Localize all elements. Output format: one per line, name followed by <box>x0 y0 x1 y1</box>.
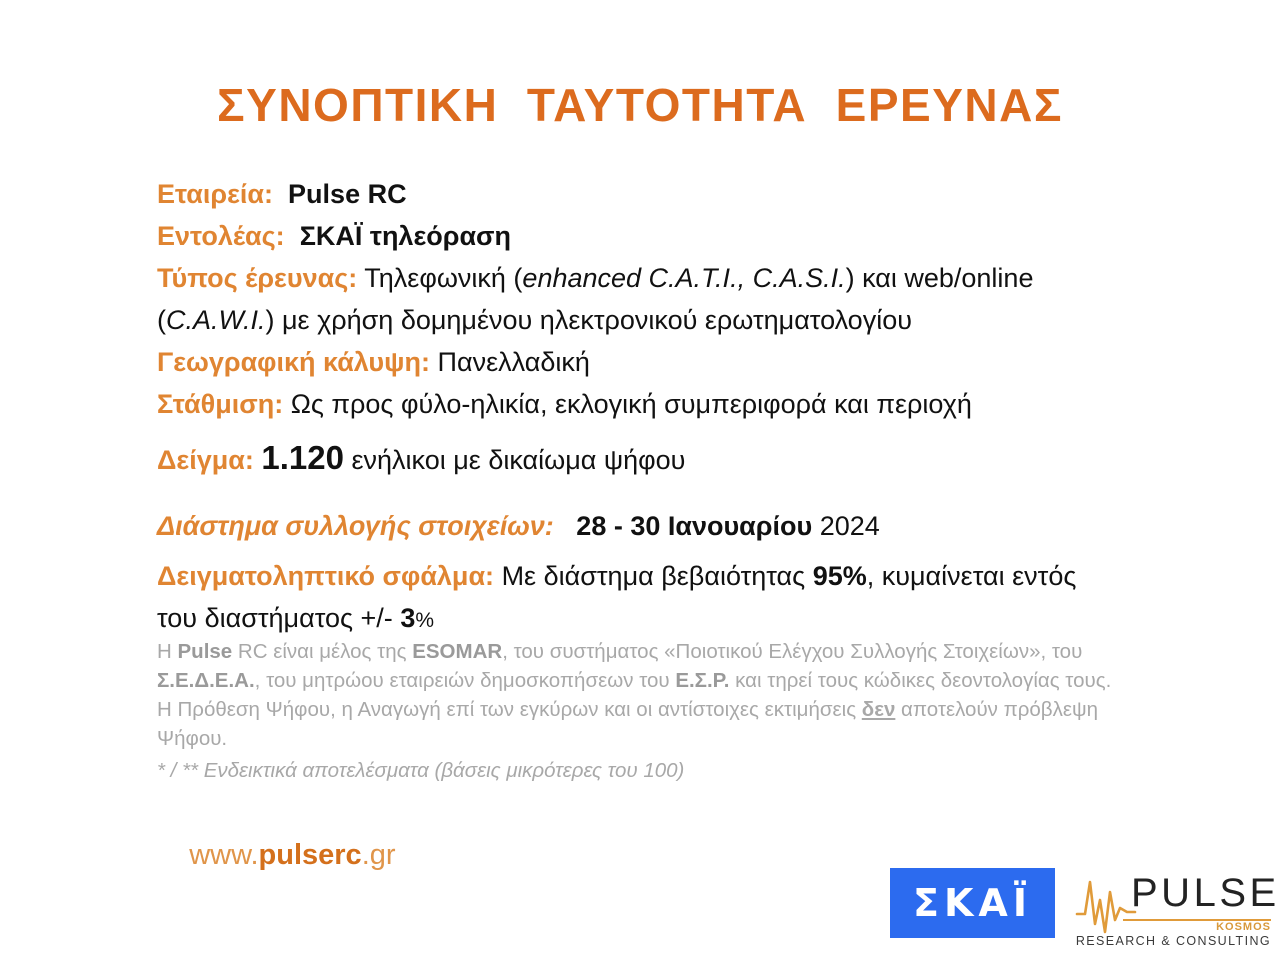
disclaimer-part-4: , του μητρώου εταιρειών δημοσκοπήσεων το… <box>255 669 676 692</box>
field-period-label: Διάστημα συλλογής στοιχείων: <box>157 511 554 541</box>
field-weighting-value: Ως προς φύλο-ηλικία, εκλογική συμπεριφορ… <box>291 389 972 419</box>
field-margin-of-error-label: Δειγματοληπτικό σφάλμα: <box>157 561 494 591</box>
disclaimer-pulse: Pulse <box>178 640 233 663</box>
field-company-label: Εταιρεία: <box>157 179 273 209</box>
field-client: Εντολέας: ΣΚΑΪ τηλεόραση <box>157 215 1117 257</box>
field-coverage: Γεωγραφική κάλυψη: Πανελλαδική <box>157 341 1117 383</box>
field-company: Εταιρεία: Pulse RC <box>157 173 1117 215</box>
logo-bar: ΣΚΑΪ PULSE KOSMOS RESEARCH & CONSULTING <box>885 862 1275 954</box>
disclaimer-text: Η Pulse RC είναι μέλος της ESOMAR, του σ… <box>157 637 1127 785</box>
field-survey-type-label: Τύπος έρευνας: <box>157 263 357 293</box>
field-sample-number: 1.120 <box>261 439 344 476</box>
pulse-logo: PULSE KOSMOS RESEARCH & CONSULTING <box>1075 862 1275 950</box>
url-suffix: .gr <box>362 839 396 871</box>
skai-logo-text: ΣΚΑΪ <box>913 881 1032 925</box>
website-url[interactable]: www.pulserc.gr <box>157 806 396 905</box>
field-survey-type-text-3: ) με χρήση δομημένου ηλεκτρονικού ερωτημ… <box>266 305 912 335</box>
field-company-value: Pulse RC <box>288 179 407 209</box>
field-period-year: 2024 <box>820 511 880 541</box>
field-error-confidence: 95% <box>813 561 867 591</box>
field-sample: Δείγμα: 1.120 ενήλικοι με δικαίωμα ψήφου <box>157 437 1117 481</box>
disclaimer-part-3: , του συστήματος «Ποιοτικού Ελέγχου Συλλ… <box>502 640 1082 663</box>
pulse-waveform-icon <box>1077 882 1135 932</box>
pulse-logo-graphic: PULSE KOSMOS RESEARCH & CONSULTING <box>1075 862 1275 950</box>
url-domain-name: pulserc <box>259 839 362 871</box>
disclaimer-part-2: RC είναι μέλος της <box>232 640 412 663</box>
field-survey-type-acronym-2: C.A.W.I. <box>166 305 266 335</box>
disclaimer-sedea: Σ.Ε.Δ.Ε.Α. <box>157 669 255 692</box>
disclaimer-footnote: * / ** Ενδεικτικά αποτελέσματα (βάσεις μ… <box>157 756 1127 785</box>
field-period: Διάστημα συλλογής στοιχείων: 28 - 30 Ιαν… <box>157 505 1117 547</box>
field-error-margin: 3 <box>400 603 415 633</box>
survey-details-block: Εταιρεία: Pulse RC Εντολέας: ΣΚΑΪ τηλεόρ… <box>157 173 1117 642</box>
field-survey-type-acronym-1: enhanced C.A.T.I., C.A.S.I. <box>522 263 845 293</box>
field-coverage-label: Γεωγραφική κάλυψη: <box>157 347 430 377</box>
field-survey-type-paren: ( <box>157 305 166 335</box>
disclaimer-den-emphasis: δεν <box>862 698 896 721</box>
field-survey-type-text-1: Τηλεφωνική ( <box>364 263 522 293</box>
field-sample-value: ενήλικοι με δικαίωμα ψήφου <box>351 445 685 475</box>
pulse-logo-sub: KOSMOS <box>1216 921 1271 933</box>
field-error-text-2: , κυμαίνεται <box>867 561 1005 591</box>
pulse-logo-tagline: RESEARCH & CONSULTING <box>1076 934 1271 948</box>
field-client-label: Εντολέας: <box>157 221 285 251</box>
disclaimer-part-1: Η <box>157 640 178 663</box>
field-error-text-1: Με διάστημα βεβαιότητας <box>502 561 806 591</box>
skai-logo: ΣΚΑΪ <box>890 868 1055 938</box>
field-survey-type: Τύπος έρευνας: Τηλεφωνική (enhanced C.A.… <box>157 257 1117 341</box>
field-error-percent-sign: % <box>415 609 434 632</box>
url-prefix: www. <box>189 839 258 871</box>
page-title: ΣΥΝΟΠΤΙΚΗ ΤΑΥΤΟΤΗΤΑ ΕΡΕΥΝΑΣ <box>0 78 1280 132</box>
slide-root: ΣΥΝΟΠΤΙΚΗ ΤΑΥΤΟΤΗΤΑ ΕΡΕΥΝΑΣ Εταιρεία: Pu… <box>0 0 1280 960</box>
field-sample-label: Δείγμα: <box>157 445 254 475</box>
field-weighting: Στάθμιση: Ως προς φύλο-ηλικία, εκλογική … <box>157 383 1117 425</box>
disclaimer-esomar: ESOMAR <box>412 640 502 663</box>
field-weighting-label: Στάθμιση: <box>157 389 283 419</box>
field-client-value: ΣΚΑΪ τηλεόραση <box>300 221 511 251</box>
disclaimer-esr: Ε.Σ.Ρ. <box>675 669 729 692</box>
field-period-dates: 28 - 30 Ιανουαρίου <box>576 511 812 541</box>
pulse-logo-wordmark: PULSE <box>1131 871 1275 915</box>
field-survey-type-text-2: ) και web/online <box>846 263 1034 293</box>
field-coverage-value: Πανελλαδική <box>437 347 589 377</box>
field-margin-of-error: Δειγματοληπτικό σφάλμα: Με διάστημα βεβα… <box>157 555 1117 642</box>
